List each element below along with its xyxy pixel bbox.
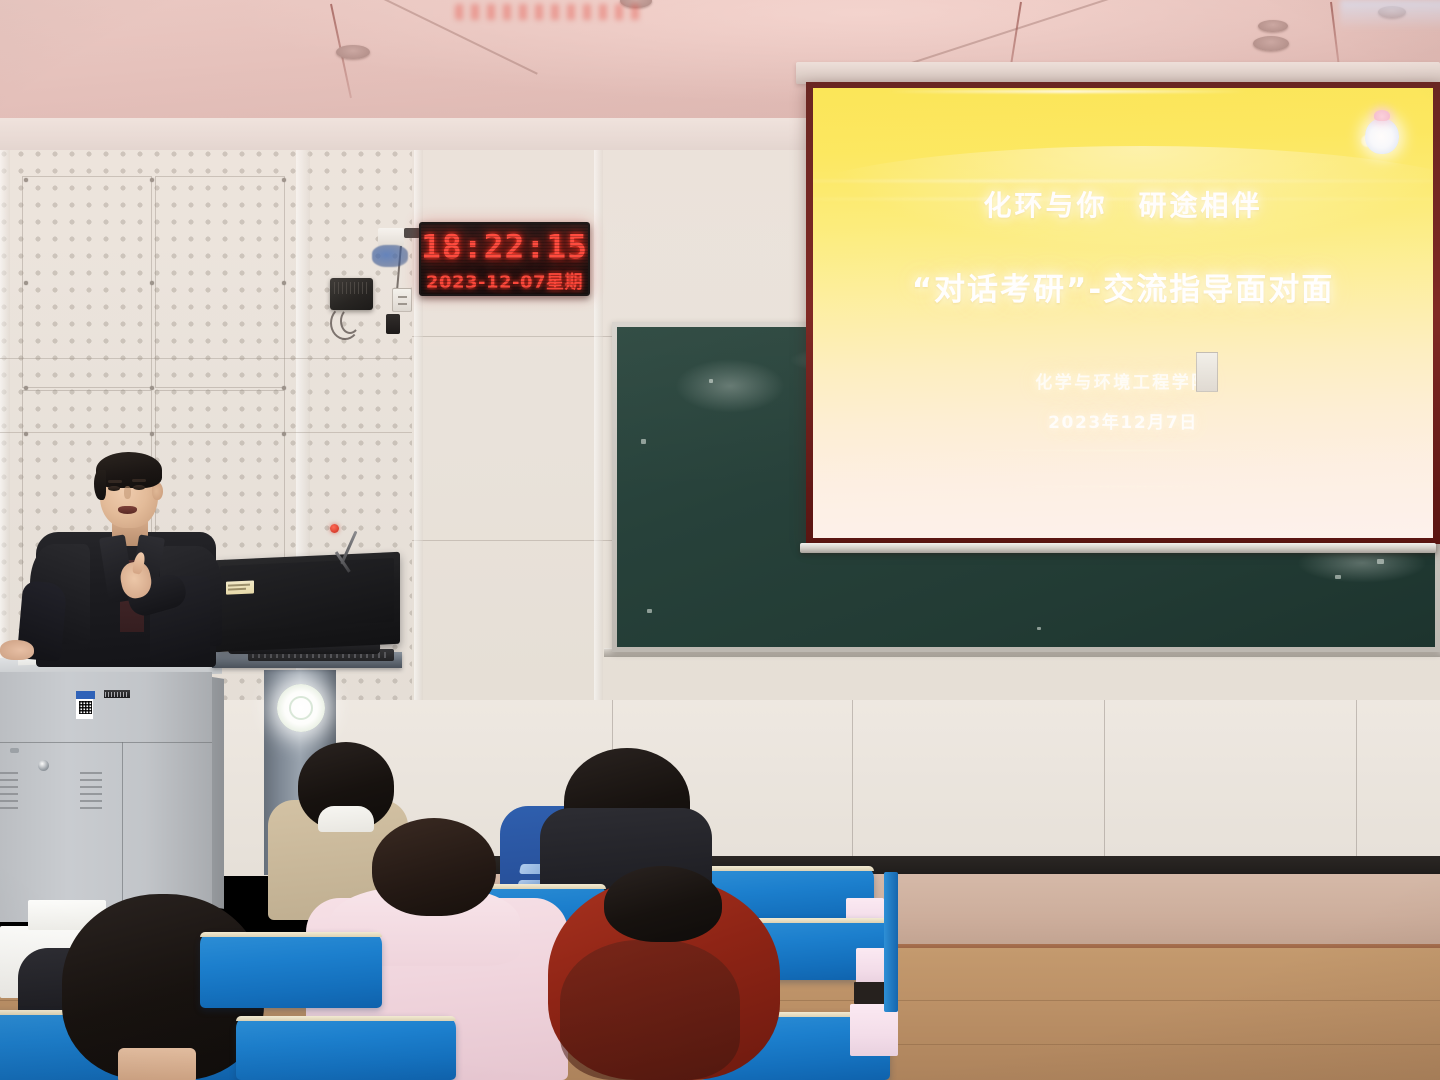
seat[interactable]	[236, 1016, 456, 1080]
cabinet-vent	[0, 772, 18, 812]
adapter-vent	[334, 282, 369, 294]
panel-screw	[150, 178, 154, 182]
clock-bracket	[404, 228, 420, 238]
classroom-photo: ▪▪▪▪	[0, 0, 1440, 1080]
chalk-fleck	[647, 609, 652, 613]
chalk-fleck	[1335, 575, 1341, 579]
panel-screw	[282, 386, 286, 390]
led-clock-date: 2023-12-07星期四	[421, 268, 588, 296]
wall-strip	[594, 150, 603, 710]
lectern-emblem-mark	[289, 696, 313, 720]
panel-screw	[24, 178, 28, 182]
acoustic-panel-outline	[22, 176, 152, 388]
slide-faint-line	[999, 486, 1247, 487]
seat-side-panel	[884, 872, 898, 1012]
cabinet-lock[interactable]	[38, 760, 49, 771]
chalk-fleck	[1377, 559, 1384, 564]
slide-title-main: 化环与你 研途相伴	[813, 184, 1433, 224]
label-line	[228, 584, 250, 586]
equipment-cabinet	[0, 672, 212, 922]
wall-joint-line	[412, 336, 612, 337]
projector-screen-weight-bar	[800, 543, 1436, 553]
wall-plug	[386, 314, 400, 334]
chalk-fleck	[709, 379, 713, 383]
asset-tag	[104, 690, 130, 698]
panel-screw	[150, 386, 154, 390]
monitor-label-sticker	[226, 580, 254, 594]
led-clock-display: 18:22:15 2023-12-07星期四	[419, 222, 590, 296]
chalk-fleck	[1037, 627, 1041, 630]
slide-faint-line	[949, 450, 1296, 451]
panel-screw	[24, 386, 28, 390]
lantern-body	[1365, 118, 1399, 154]
wall-joint-line	[0, 432, 412, 433]
wall-panel-seam	[852, 700, 853, 876]
cabinet-vent	[80, 772, 102, 812]
asset-tag-text	[105, 692, 129, 697]
ceiling-light-panel	[1340, 0, 1440, 30]
cabinet-door-seam	[122, 742, 123, 922]
seat[interactable]	[200, 932, 382, 1008]
presenter-left-hand	[0, 640, 34, 660]
projector-screen-frame: 化环与你 研途相伴 “对话考研”-交流指导面对面 化学与环境工程学院 2023年…	[806, 82, 1440, 544]
seat-trim	[706, 866, 874, 871]
panel-screw	[282, 178, 286, 182]
sticker-header	[76, 691, 95, 699]
student-head-behind	[604, 866, 722, 942]
lantern-cap	[1374, 110, 1390, 121]
projector-screen-housing	[796, 62, 1440, 84]
label-line	[228, 588, 246, 590]
acoustic-panel-outline	[155, 176, 285, 388]
ceiling-light	[336, 45, 370, 59]
student-collar	[318, 806, 374, 832]
hanging-cable-loop	[340, 308, 360, 334]
slide-date: 2023年12月7日	[813, 408, 1433, 433]
student-hair-shadow	[560, 940, 740, 1080]
wall-junction-box	[378, 228, 404, 246]
lantern-icon	[1361, 108, 1403, 160]
presenter-eyebrow	[132, 479, 146, 482]
wall-outlet	[392, 288, 412, 312]
wall-power-adapter	[330, 278, 373, 310]
student-head	[372, 818, 496, 916]
wall-joint-line	[0, 358, 412, 359]
panel-screw	[24, 281, 28, 285]
ceiling-light	[1258, 20, 1288, 32]
presentation-slide: 化环与你 研途相伴 “对话考研”-交流指导面对面 化学与环境工程学院 2023年…	[813, 88, 1433, 538]
ceiling-light	[1253, 36, 1289, 51]
presenter-eye	[108, 486, 120, 491]
chalk-smudge	[675, 359, 785, 413]
slide-glint	[887, 90, 1247, 93]
outlet-slot	[398, 296, 407, 298]
presenter-mouth	[118, 506, 137, 514]
chalk-fleck	[641, 439, 646, 444]
panel-screw	[282, 281, 286, 285]
presenter-nose	[124, 486, 131, 499]
wall-panel-seam	[1104, 700, 1105, 876]
podium-monitor[interactable]	[214, 552, 400, 652]
student-neck	[118, 1048, 196, 1080]
presenter-eyebrow	[108, 480, 122, 483]
wall-panel-seam	[1356, 700, 1357, 876]
presenter-hair-side	[94, 470, 106, 500]
cabinet-door-seam	[0, 742, 212, 743]
seat-trim	[200, 932, 382, 937]
led-clock-time: 18:22:15	[421, 227, 588, 266]
microphone-head-icon	[330, 524, 339, 533]
seat-trim	[236, 1016, 456, 1021]
panel-screw	[150, 281, 154, 285]
wall-cable-bundle	[372, 245, 408, 267]
led-clock-ceiling-reflection	[455, 4, 640, 20]
outlet-slot	[398, 303, 407, 305]
slide-title-sub: “对话考研”-交流指导面对面	[813, 264, 1433, 309]
wall-strip	[0, 150, 10, 710]
wall-access-panel	[1196, 352, 1218, 392]
wall-joint-line	[412, 540, 612, 541]
cabinet-handle[interactable]	[10, 748, 19, 753]
presenter-eye	[133, 485, 145, 490]
qr-code-sticker	[75, 690, 94, 720]
qr-code	[79, 701, 92, 714]
slide-organization: 化学与环境工程学院	[813, 368, 1433, 393]
slide-wave	[813, 180, 1433, 182]
monitor-screen[interactable]	[220, 558, 394, 630]
